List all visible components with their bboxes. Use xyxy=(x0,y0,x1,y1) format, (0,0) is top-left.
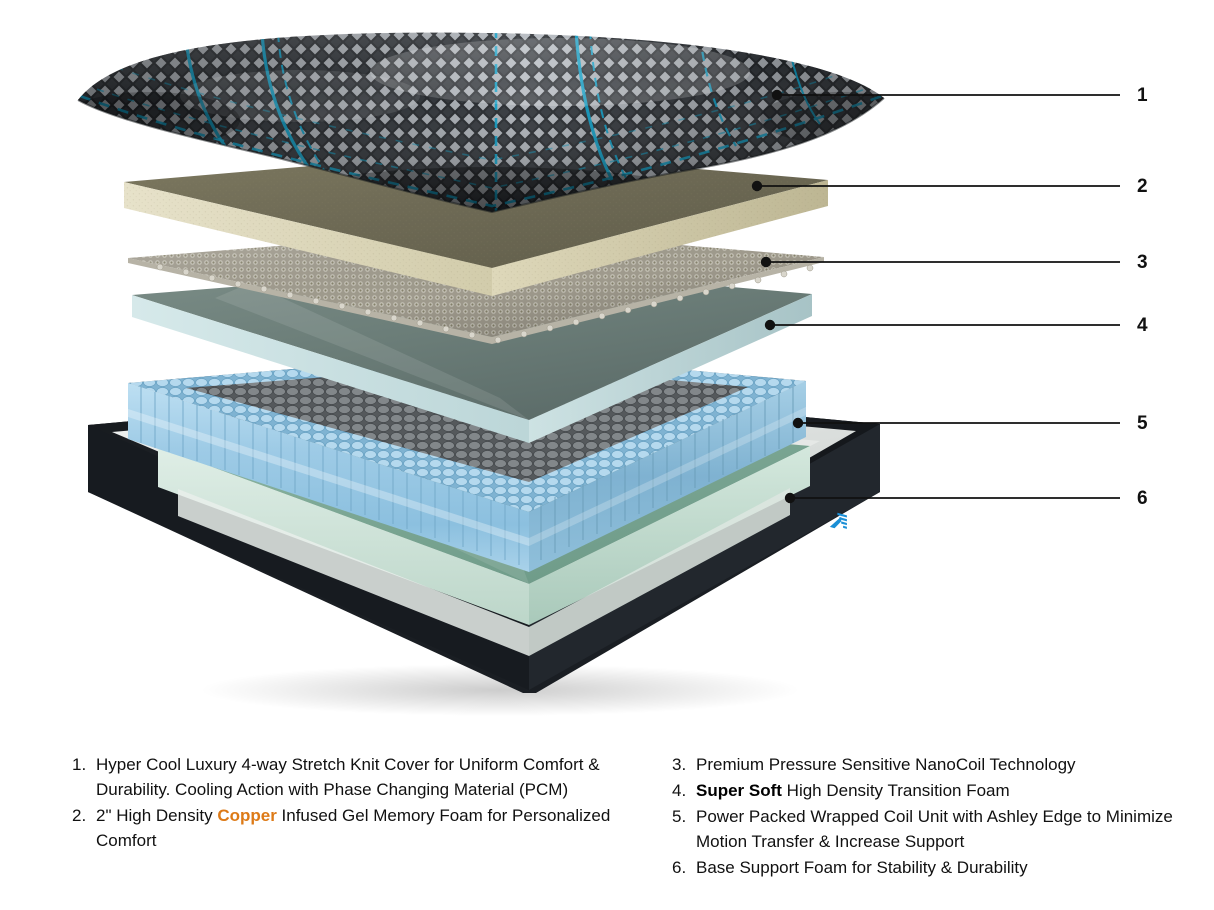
caption-item-4: 4. Super Soft High Density Transition Fo… xyxy=(672,778,1192,803)
caption-marker-3: 3. xyxy=(672,752,696,777)
exploded-mattress-figure: 1 2 3 4 5 6 xyxy=(0,0,1214,740)
callout-leader-4 xyxy=(765,320,1120,330)
caption-item-5: 5. Power Packed Wrapped Coil Unit with A… xyxy=(672,804,1192,854)
caption-text-5: Power Packed Wrapped Coil Unit with Ashl… xyxy=(696,804,1192,854)
caption-column-left: 1. Hyper Cool Luxury 4-way Stretch Knit … xyxy=(72,752,652,854)
caption-text-3: Premium Pressure Sensitive NanoCoil Tech… xyxy=(696,752,1192,777)
caption-item-6: 6. Base Support Foam for Stability & Dur… xyxy=(672,855,1192,880)
callout-label-1: 1 xyxy=(1137,86,1148,105)
caption-legend: 1. Hyper Cool Luxury 4-way Stretch Knit … xyxy=(0,752,1214,910)
mattress-illustration xyxy=(0,0,1214,740)
caption-marker-6: 6. xyxy=(672,855,696,880)
caption-item-1: 1. Hyper Cool Luxury 4-way Stretch Knit … xyxy=(72,752,652,802)
caption-text-4: Super Soft High Density Transition Foam xyxy=(696,778,1192,803)
caption-column-right: 3. Premium Pressure Sensitive NanoCoil T… xyxy=(672,752,1192,881)
caption-item-3: 3. Premium Pressure Sensitive NanoCoil T… xyxy=(672,752,1192,777)
caption-text-6: Base Support Foam for Stability & Durabi… xyxy=(696,855,1192,880)
caption-item-2: 2. 2" High Density Copper Infused Gel Me… xyxy=(72,803,652,853)
mattress-layer-diagram: 1 2 3 4 5 6 1. Hyper Cool Luxury 4-way S… xyxy=(0,0,1214,910)
caption-text-2: 2" High Density Copper Infused Gel Memor… xyxy=(96,803,652,853)
callout-label-6: 6 xyxy=(1137,489,1148,508)
callout-label-5: 5 xyxy=(1137,414,1148,433)
caption-marker-1: 1. xyxy=(72,752,96,777)
caption-marker-2: 2. xyxy=(72,803,96,828)
callout-label-4: 4 xyxy=(1137,316,1148,335)
callout-label-2: 2 xyxy=(1137,177,1148,196)
caption-marker-4: 4. xyxy=(672,778,696,803)
callout-label-3: 3 xyxy=(1137,253,1148,272)
caption-marker-5: 5. xyxy=(672,804,696,829)
caption-text-1: Hyper Cool Luxury 4-way Stretch Knit Cov… xyxy=(96,752,652,802)
